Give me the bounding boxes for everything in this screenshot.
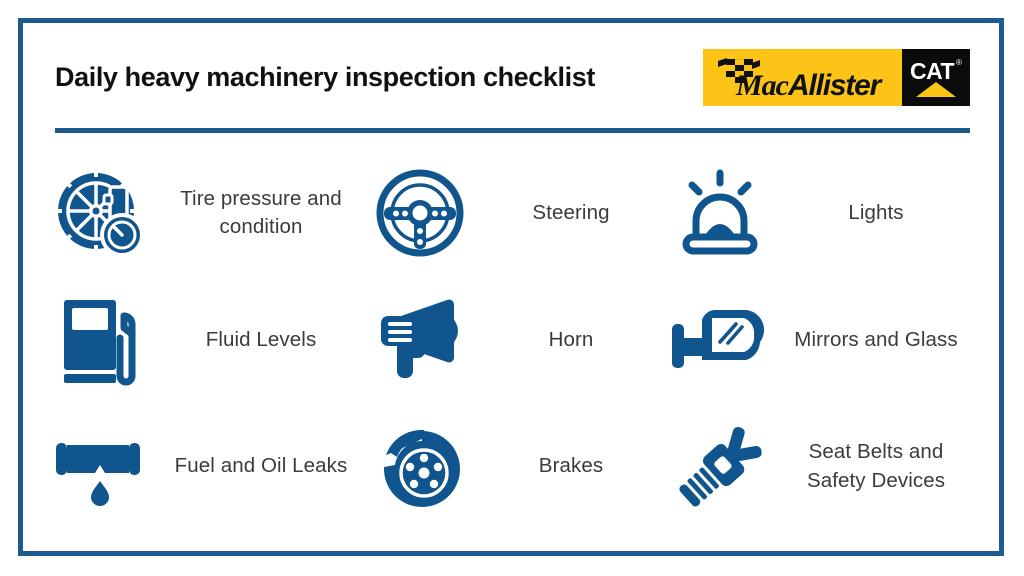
checklist-item-label: Seat Belts and Safety Devices xyxy=(778,438,978,495)
brake-disc-icon xyxy=(368,415,472,519)
side-mirror-icon xyxy=(668,288,772,392)
checklist-item-brakes[interactable]: Brakes xyxy=(368,403,668,530)
checklist-item-label: Mirrors and Glass xyxy=(778,326,978,355)
checklist-item-steering[interactable]: Steering xyxy=(368,150,668,277)
checklist-item-fluid-levels[interactable]: Fluid Levels xyxy=(48,277,368,404)
header: Daily heavy machinery inspection checkli… xyxy=(55,40,970,115)
checklist-item-horn[interactable]: Horn xyxy=(368,277,668,404)
steering-wheel-icon xyxy=(368,161,472,265)
checklist-item-label: Fuel and Oil Leaks xyxy=(158,452,368,481)
checklist-grid: Tire pressure and condition xyxy=(48,150,978,530)
seat-belt-buckle-icon xyxy=(668,415,772,519)
checklist-item-seat-belts[interactable]: Seat Belts and Safety Devices xyxy=(668,403,978,530)
header-divider xyxy=(55,128,970,133)
page-title: Daily heavy machinery inspection checkli… xyxy=(55,63,595,93)
checklist-item-label: Tire pressure and condition xyxy=(158,185,368,242)
checklist-item-label: Lights xyxy=(778,199,978,228)
checklist-item-label: Fluid Levels xyxy=(158,326,368,355)
beacon-light-icon xyxy=(668,161,772,265)
macallister-wordmark-icon: Mac Allister xyxy=(710,55,896,101)
svg-text:CAT: CAT xyxy=(910,58,955,84)
checklist-item-label: Horn xyxy=(478,326,668,355)
checklist-item-label: Steering xyxy=(478,199,668,228)
checklist-item-tire-pressure[interactable]: Tire pressure and condition xyxy=(48,150,368,277)
svg-text:®: ® xyxy=(956,58,962,67)
leaking-pipe-icon xyxy=(48,415,152,519)
cat-wordmark-icon: CAT ® xyxy=(908,55,964,101)
checklist-item-lights[interactable]: Lights xyxy=(668,150,978,277)
megaphone-horn-icon xyxy=(368,288,472,392)
tire-gauge-icon xyxy=(48,161,152,265)
cat-logo: CAT ® xyxy=(902,49,970,106)
checklist-item-label: Brakes xyxy=(478,452,668,481)
macallister-logo: Mac Allister xyxy=(703,49,902,106)
svg-text:Allister: Allister xyxy=(787,69,884,101)
svg-text:Mac: Mac xyxy=(735,69,789,101)
slide-canvas: Daily heavy machinery inspection checkli… xyxy=(0,0,1024,576)
fuel-pump-icon xyxy=(48,288,152,392)
checklist-item-mirrors-glass[interactable]: Mirrors and Glass xyxy=(668,277,978,404)
logo-lockup: Mac Allister CAT ® xyxy=(703,49,970,106)
checklist-item-fuel-oil-leaks[interactable]: Fuel and Oil Leaks xyxy=(48,403,368,530)
cat-triangle-icon xyxy=(916,82,956,97)
